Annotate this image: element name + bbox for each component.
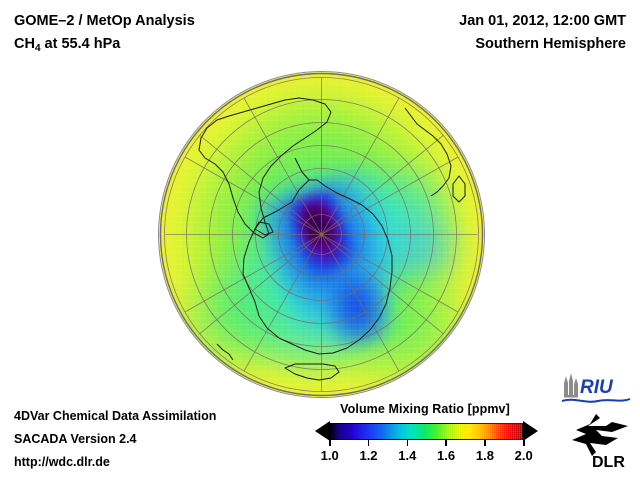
coastline-africa [405,108,451,196]
coastline-ross-inlet [255,222,273,235]
colorbar-tick [484,440,486,446]
riu-logo: RIU [560,371,632,405]
colorbar-tick-label: 1.4 [398,448,416,463]
credit-line-method: 4DVar Chemical Data Assimilation [14,405,216,428]
instrument-title: GOME–2 / MetOp Analysis [14,10,195,33]
species-formula-prefix: CH [14,36,35,52]
globe-disc [159,72,484,397]
dlr-logo: DLR [566,412,634,472]
species-level-title: CH4 at 55.4 hPa [14,33,195,60]
coastline-new-zealand [217,344,233,360]
polar-map-figure [159,72,484,397]
riu-wave-icon [562,399,630,402]
colorbar-tick-label: 2.0 [515,448,533,463]
coastline-madagascar [453,176,465,202]
colorbar-tick [407,440,409,446]
region-label: Southern Hemisphere [459,33,626,56]
colorbar-tick [368,440,370,446]
riu-cathedral-towers-icon [564,373,578,398]
colorbar-tick-label: 1.8 [476,448,494,463]
datetime-label: Jan 01, 2012, 12:00 GMT [459,10,626,33]
colorbar-title: Volume Mixing Ratio [ppmv] [300,402,550,416]
colorbar-tick [445,440,447,446]
credit-line-version: SACADA Version 2.4 [14,428,216,451]
colorbar-gradient [329,423,523,440]
over-range-arrow-icon [523,421,538,441]
colorbar-tick-label: 1.6 [437,448,455,463]
colorbar-block: Volume Mixing Ratio [ppmv] 1.0 1.2 1.4 1… [300,402,550,466]
credit-line-url[interactable]: http://wdc.dlr.de [14,451,216,474]
coastline-australia [285,364,339,380]
colorbar-tick [523,440,525,446]
riu-wordmark: RIU [580,377,614,398]
under-range-arrow-icon [315,421,330,441]
header-right-block: Jan 01, 2012, 12:00 GMT Southern Hemisph… [459,10,626,56]
coastline-overlay [159,72,484,397]
dlr-wordmark: DLR [592,454,625,471]
species-level-suffix: at 55.4 hPa [41,36,121,52]
coastline-antarctica [243,180,392,354]
colorbar-tick-label: 1.0 [321,448,339,463]
colorbar-tick [329,440,331,446]
colorbar-figure [300,420,550,444]
colorbar-tick-label: 1.2 [359,448,377,463]
coastline-antarctic-peninsula [295,158,309,180]
dlr-emblem-icon [572,414,628,456]
footer-credits-block: 4DVar Chemical Data Assimilation SACADA … [14,405,216,474]
colorbar-tick-labels: 1.0 1.2 1.4 1.6 1.8 2.0 [300,448,550,466]
header-left-block: GOME–2 / MetOp Analysis CH4 at 55.4 hPa [14,10,195,60]
